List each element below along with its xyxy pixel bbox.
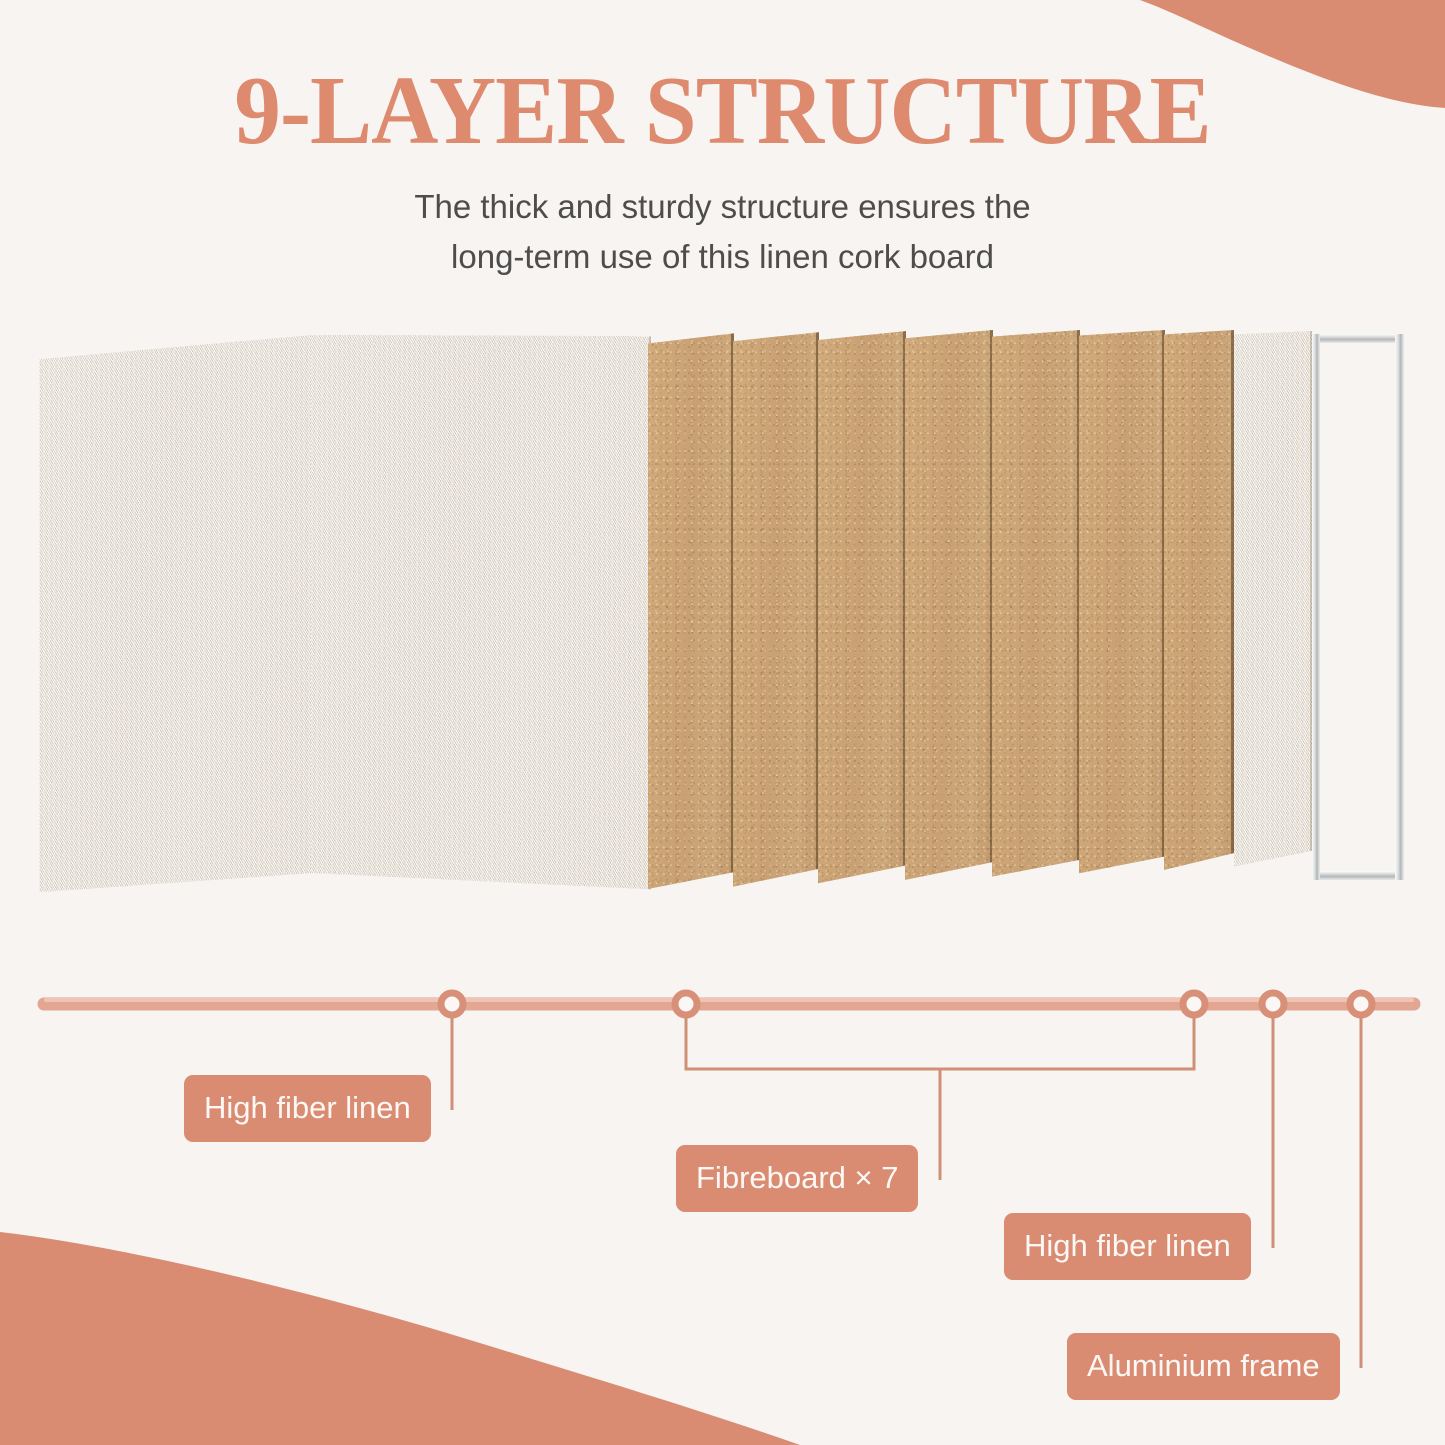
- callout-high-fiber-linen-back[interactable]: High fiber linen: [1004, 1213, 1251, 1280]
- infographic-canvas: 9-LAYER STRUCTURE The thick and sturdy s…: [0, 0, 1445, 1445]
- callout-high-fiber-linen-front[interactable]: High fiber linen: [184, 1075, 431, 1142]
- marker-high-fiber-linen-back[interactable]: [1262, 993, 1284, 1015]
- leader-fibreboard-bracket: [686, 1004, 1194, 1069]
- marker-fibreboard-end[interactable]: [1183, 993, 1205, 1015]
- callout-aluminium-frame[interactable]: Aluminium frame: [1067, 1333, 1340, 1400]
- marker-aluminium-frame[interactable]: [1350, 993, 1372, 1015]
- marker-fibreboard-start[interactable]: [675, 993, 697, 1015]
- callout-fibreboard[interactable]: Fibreboard × 7: [676, 1145, 918, 1212]
- marker-high-fiber-linen-front[interactable]: [441, 993, 463, 1015]
